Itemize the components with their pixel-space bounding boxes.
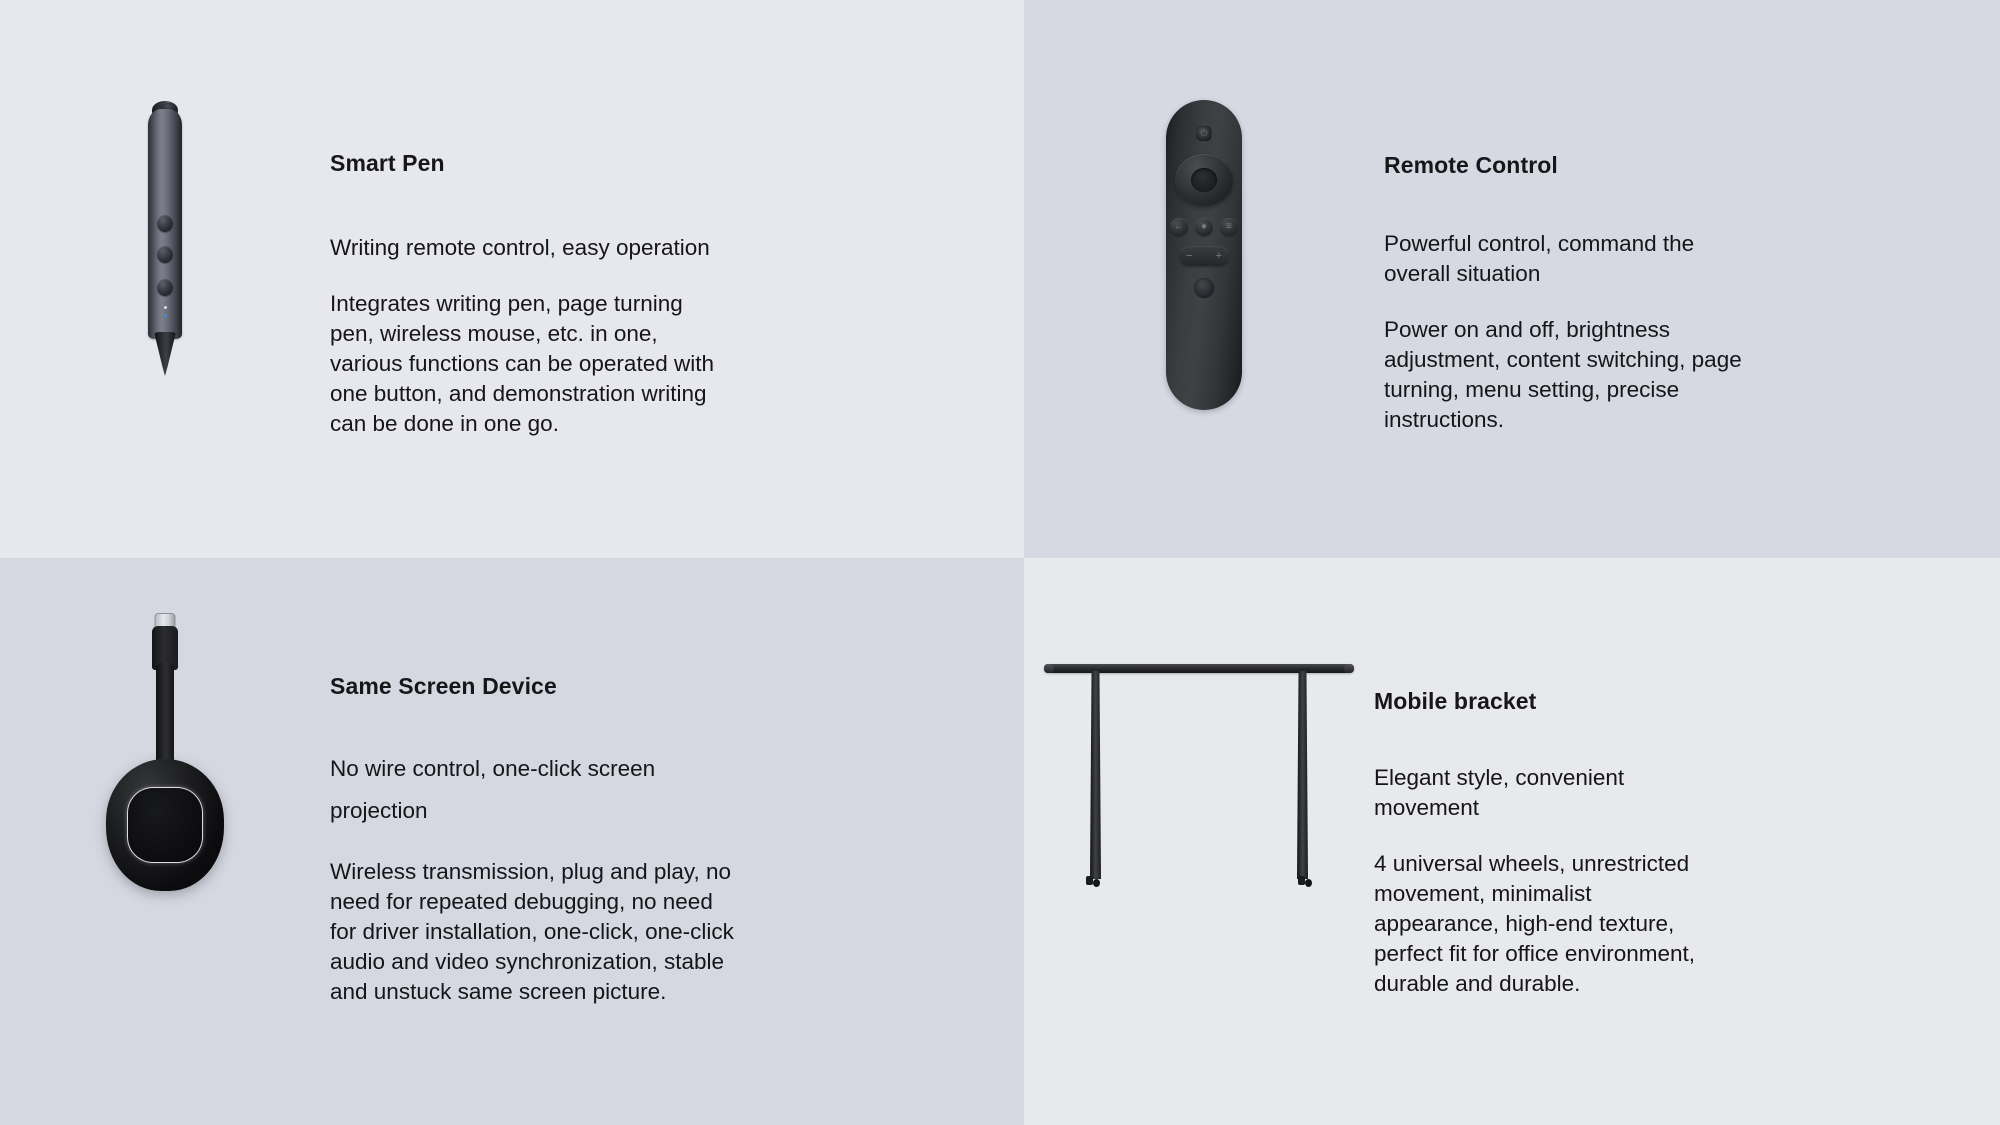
- accessory-feature-grid: Smart Pen Writing remote control, easy o…: [0, 0, 2000, 1125]
- same-screen-device-body: Wireless transmission, plug and play, no…: [330, 857, 810, 1007]
- mobile-bracket-media: [1024, 558, 1374, 1125]
- top-cross-bar: [1044, 664, 1354, 673]
- remote-button-row: ← ● ≡: [1166, 218, 1242, 236]
- function-button-1-icon: [157, 215, 173, 232]
- same-screen-device-lede: No wire control, one-click screen projec…: [330, 748, 810, 831]
- mobile-bracket-body: 4 universal wheels, unrestricted movemen…: [1374, 849, 1794, 999]
- same-screen-device-media: [0, 558, 330, 1125]
- mobile-bracket-illustration: [1044, 664, 1354, 894]
- back-arrow-icon: ←: [1170, 218, 1188, 236]
- function-button-3-icon: [157, 279, 173, 296]
- mobile-bracket-title: Mobile bracket: [1374, 688, 1794, 715]
- volume-down-icon: −: [1186, 251, 1192, 262]
- function-button-2-icon: [157, 246, 173, 263]
- quadrant-grid: Smart Pen Writing remote control, easy o…: [0, 0, 2000, 1125]
- smart-pen-title: Smart Pen: [330, 150, 800, 177]
- pen-tip: [154, 332, 176, 376]
- dpad-center-button: [1191, 168, 1217, 192]
- left-leg: [1090, 671, 1101, 879]
- status-led-blue-icon: [164, 314, 167, 317]
- right-leg: [1297, 671, 1308, 879]
- panel-remote-control: ⏻ ← ● ≡ − + Remote: [1024, 0, 2000, 558]
- smart-pen-lede: Writing remote control, easy operation: [330, 233, 800, 263]
- light-ring-icon: [127, 787, 203, 863]
- remote-control-title: Remote Control: [1384, 152, 1834, 179]
- status-led-white-icon: [164, 306, 167, 309]
- smart-pen-media: [0, 0, 330, 558]
- remote-control-lede: Powerful control, command the overall si…: [1384, 229, 1834, 289]
- remote-control-media: ⏻ ← ● ≡ − +: [1024, 0, 1384, 558]
- dongle-round-body: [106, 759, 224, 891]
- mobile-bracket-copy: Mobile bracket Elegant style, convenient…: [1374, 558, 1794, 998]
- smart-pen-body: Integrates writing pen, page turning pen…: [330, 289, 800, 439]
- smart-pen-copy: Smart Pen Writing remote control, easy o…: [330, 0, 800, 439]
- home-button: [1194, 278, 1214, 298]
- power-button-icon: ⏻: [1197, 126, 1212, 141]
- same-screen-device-copy: Same Screen Device No wire control, one-…: [330, 558, 810, 1007]
- left-caster-icon: [1085, 876, 1101, 889]
- volume-rocker: − +: [1179, 246, 1229, 266]
- right-caster-icon: [1297, 876, 1313, 889]
- panel-mobile-bracket: Mobile bracket Elegant style, convenient…: [1024, 558, 2000, 1125]
- panel-smart-pen: Smart Pen Writing remote control, easy o…: [0, 0, 1024, 558]
- remote-control-copy: Remote Control Powerful control, command…: [1384, 0, 1834, 435]
- mobile-bracket-lede: Elegant style, convenient movement: [1374, 763, 1794, 823]
- voice-mic-icon: ●: [1195, 218, 1213, 236]
- smart-pen-illustration: [148, 95, 182, 395]
- screen-casting-dongle-illustration: [105, 613, 225, 913]
- panel-same-screen-device: Same Screen Device No wire control, one-…: [0, 558, 1024, 1125]
- menu-icon: ≡: [1220, 218, 1238, 236]
- same-screen-device-title: Same Screen Device: [330, 673, 810, 700]
- remote-control-body: Power on and off, brightness adjustment,…: [1384, 315, 1834, 435]
- remote-control-illustration: ⏻ ← ● ≡ − +: [1166, 100, 1242, 410]
- volume-up-icon: +: [1216, 251, 1222, 262]
- dpad-ring: [1175, 154, 1233, 206]
